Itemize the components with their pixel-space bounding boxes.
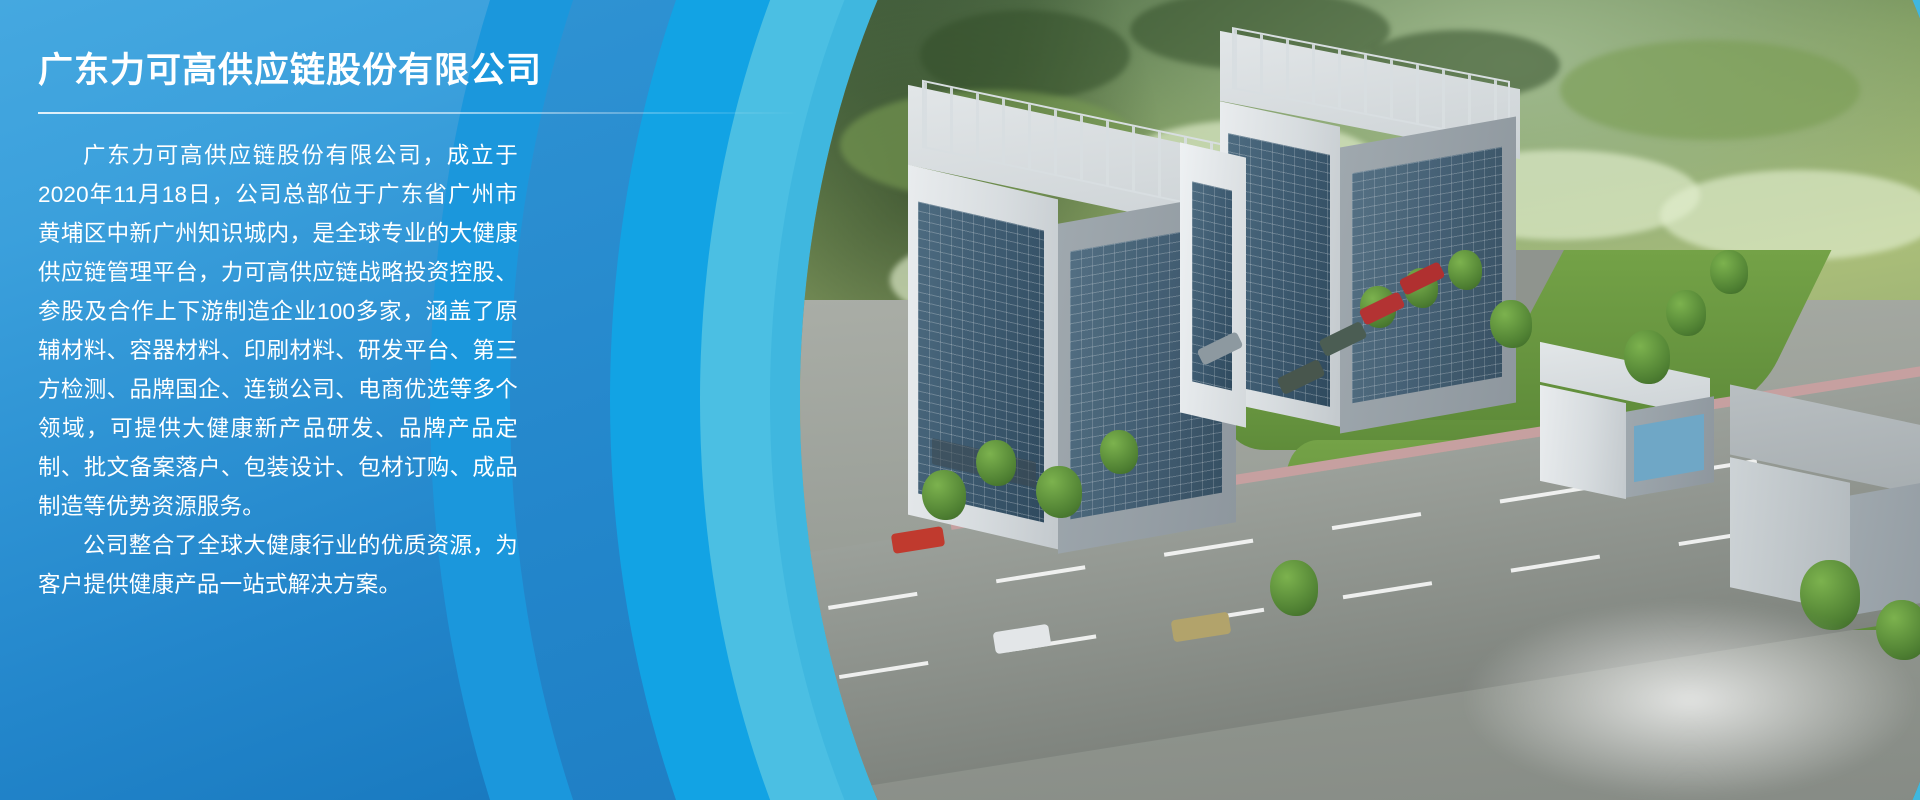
company-description: 广东力可高供应链股份有限公司，成立于2020年11月18日，公司总部位于广东省广…: [38, 136, 518, 604]
title-divider: [38, 112, 1918, 114]
tree: [1448, 250, 1482, 290]
text-column: 广东力可高供应链股份有限公司 广东力可高供应链股份有限公司，成立于2020年11…: [0, 0, 560, 604]
facility-photo-mask: [800, 0, 1920, 800]
tree: [1270, 560, 1318, 616]
annex-building: [1540, 360, 1730, 500]
mist-overlay: [1460, 600, 1920, 800]
tree: [1100, 430, 1138, 474]
tree: [976, 440, 1016, 486]
foliage-patch: [1560, 40, 1860, 140]
description-paragraph-1: 广东力可高供应链股份有限公司，成立于2020年11月18日，公司总部位于广东省广…: [38, 136, 518, 526]
tree: [1666, 290, 1706, 336]
tree: [1490, 300, 1532, 348]
facility-photo: [800, 0, 1920, 800]
company-profile-banner: 广东力可高供应链股份有限公司 广东力可高供应链股份有限公司，成立于2020年11…: [0, 0, 1920, 800]
tree: [1710, 250, 1748, 294]
tree: [922, 470, 966, 520]
description-paragraph-2: 公司整合了全球大健康行业的优质资源，为客户提供健康产品一站式解决方案。: [38, 526, 518, 604]
tree: [1624, 330, 1670, 384]
link-building: [1180, 150, 1270, 450]
tree: [1036, 466, 1082, 518]
company-title: 广东力可高供应链股份有限公司: [38, 48, 560, 94]
